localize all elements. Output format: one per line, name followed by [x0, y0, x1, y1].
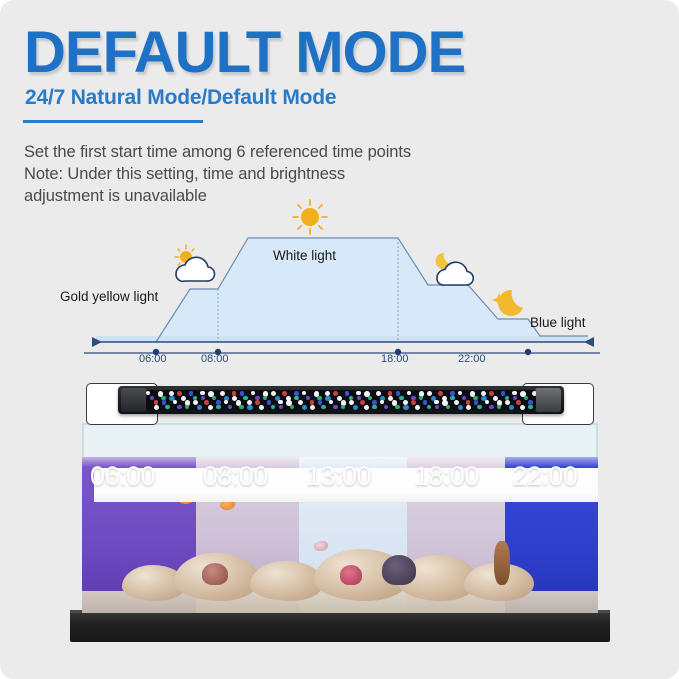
chart-svg — [0, 195, 679, 370]
led-bar-end-right — [535, 388, 561, 412]
description-line-2: Note: Under this setting, time and brigh… — [24, 164, 411, 186]
x-tick-label-2200: 22:00 — [458, 353, 486, 365]
tank-glass: 06:00 08:00 13:00 18:00 22:00 — [82, 423, 598, 613]
water-surface — [505, 457, 598, 467]
tank-hood — [94, 468, 598, 502]
tank-scene: 06:00 08:00 13:00 18:00 22:00 — [70, 378, 610, 653]
light-schedule-chart — [0, 195, 679, 370]
rock — [250, 561, 324, 601]
description-line-1: Set the first start time among 6 referen… — [24, 142, 411, 164]
baseline-band — [96, 336, 588, 342]
x-tick-label-1800: 18:00 — [381, 353, 409, 365]
title-divider — [23, 120, 203, 123]
sun-icon — [293, 200, 327, 234]
water-surface — [196, 457, 299, 467]
water-surface — [82, 457, 196, 467]
moon-behind-cloud-icon — [436, 253, 474, 285]
page-title: DEFAULT MODE — [24, 24, 465, 82]
coral — [340, 565, 362, 585]
coral — [494, 541, 510, 585]
x-tick-label-0800: 08:00 — [201, 353, 229, 365]
water-surface — [407, 457, 505, 467]
led-diode-strip — [146, 390, 536, 410]
reef-rockwork — [82, 543, 598, 613]
tick-dot-end — [525, 349, 531, 355]
page-root: DEFAULT MODE 24/7 Natural Mode/Default M… — [0, 0, 679, 679]
aquarium-tank-photo: 06:00 08:00 13:00 18:00 22:00 — [70, 378, 610, 653]
led-bar-end-left — [121, 388, 147, 412]
led-light-bar — [118, 386, 564, 414]
page-subtitle: 24/7 Natural Mode/Default Mode — [25, 86, 336, 110]
chart-label-gold-yellow-light: Gold yellow light — [60, 289, 158, 304]
x-tick-label-0600: 06:00 — [139, 353, 167, 365]
water-surface — [299, 457, 407, 467]
brightness-area — [96, 238, 588, 342]
crescent-moon-star-icon — [492, 290, 523, 316]
chart-label-white-light: White light — [273, 248, 336, 263]
tank-stand — [70, 610, 610, 642]
sun-behind-cloud-icon — [175, 245, 215, 281]
coral — [382, 555, 416, 585]
chart-label-blue-light: Blue light — [530, 315, 586, 330]
coral — [202, 563, 228, 585]
